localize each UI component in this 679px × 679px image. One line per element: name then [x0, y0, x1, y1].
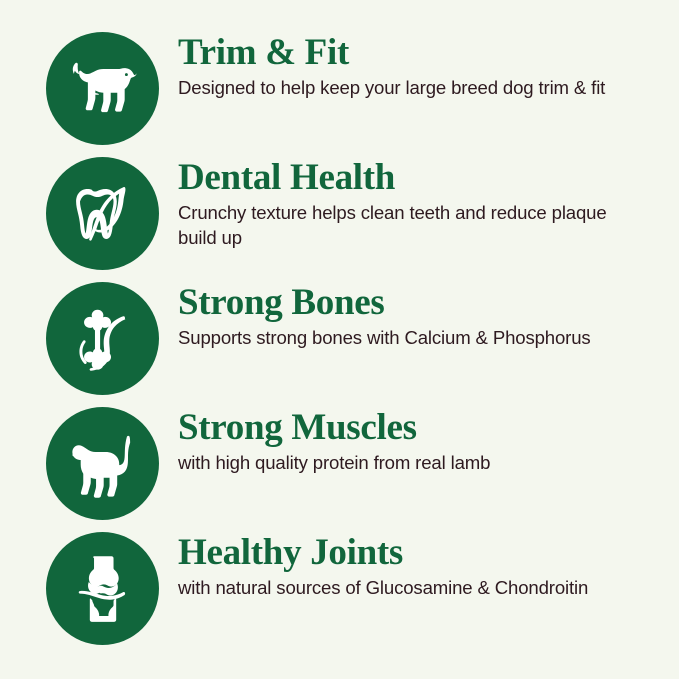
knee-joint-leaf-icon	[46, 532, 159, 645]
benefit-text-block: Dental Health Crunchy texture helps clea…	[159, 151, 661, 250]
dog-muscular-icon	[46, 407, 159, 520]
tooth-leaf-icon	[46, 157, 159, 270]
benefit-title: Strong Bones	[178, 284, 661, 322]
benefit-text-block: Strong Bones Supports strong bones with …	[159, 276, 661, 351]
benefit-description: with high quality protein from real lamb	[178, 451, 648, 476]
benefit-row-strong-muscles: Strong Muscles with high quality protein…	[46, 401, 661, 526]
dog-standing-icon	[46, 32, 159, 145]
benefit-row-strong-bones: Strong Bones Supports strong bones with …	[46, 276, 661, 401]
benefit-description: Supports strong bones with Calcium & Pho…	[178, 326, 648, 351]
benefit-title: Healthy Joints	[178, 534, 661, 572]
bone-leaf-icon	[46, 282, 159, 395]
benefit-description: with natural sources of Glucosamine & Ch…	[178, 576, 648, 601]
benefit-description: Designed to help keep your large breed d…	[178, 76, 648, 101]
benefit-text-block: Healthy Joints with natural sources of G…	[159, 526, 661, 601]
benefit-row-dental-health: Dental Health Crunchy texture helps clea…	[46, 151, 661, 276]
benefit-row-trim-and-fit: Trim & Fit Designed to help keep your la…	[46, 26, 661, 151]
benefits-infographic: Trim & Fit Designed to help keep your la…	[0, 0, 679, 679]
benefit-text-block: Trim & Fit Designed to help keep your la…	[159, 26, 661, 101]
benefit-title: Trim & Fit	[178, 34, 661, 72]
benefit-title: Dental Health	[178, 159, 661, 197]
benefit-text-block: Strong Muscles with high quality protein…	[159, 401, 661, 476]
benefit-title: Strong Muscles	[178, 409, 661, 447]
benefit-description: Crunchy texture helps clean teeth and re…	[178, 201, 648, 250]
benefit-row-healthy-joints: Healthy Joints with natural sources of G…	[46, 526, 661, 651]
